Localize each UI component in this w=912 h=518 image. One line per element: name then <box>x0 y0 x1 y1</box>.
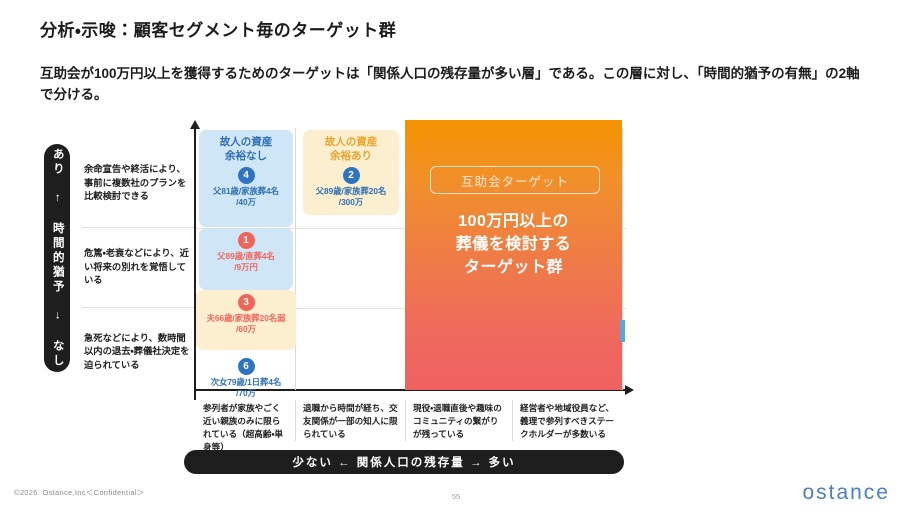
cell-4-persona: 父81歳/家族葬4名 /40万 <box>199 186 293 213</box>
column-desc-1: 退職から時間が経ち、交友関係が一部の知人に限られている <box>295 400 405 441</box>
cell-segment-4[interactable]: 故人の資産 余裕なし 4 父81歳/家族葬4名 /40万 <box>199 130 293 227</box>
cell-1-persona: 父89歳/直葬4名 /9万円 <box>199 251 293 278</box>
cell-2-header: 故人の資産 余裕あり <box>303 130 399 163</box>
column-desc-0: 参列者が家族やごく近い親族のみに限られている（超高齢・単身等） <box>196 400 295 454</box>
cell-3-persona: 夫66歳/家族葬20名弱 /60万 <box>196 313 296 340</box>
cell-4-header: 故人の資産 余裕なし <box>199 130 293 163</box>
row-label-1: 危篤・老衰などにより、近い将来の別れを覚悟している <box>82 228 194 308</box>
cell-2-persona: 父89歳/家族葬20名 /300万 <box>303 186 399 213</box>
cell-segment-1[interactable]: 1 父89歳/直葬4名 /9万円 <box>199 228 293 290</box>
column-divider-1 <box>295 128 296 390</box>
cell-4-badge: 4 <box>238 167 255 184</box>
y-axis-arrow <box>194 128 196 400</box>
cell-segment-3[interactable]: 3 夫66歳/家族葬20名弱 /60万 <box>196 290 296 350</box>
x-axis-label-pill: 少ない ← 関係人口の残存量 → 多い <box>184 450 624 474</box>
cell-6-badge: 6 <box>238 358 255 375</box>
column-desc-2: 現役・退職直後や趣味のコミュニティの繋がりが残っている <box>405 400 512 441</box>
stray-marker <box>620 320 625 342</box>
matrix-chart: あり ↑ 時間的猶予 ↓ なし 余命宣告や終活により、事前に複数社のプランを比較… <box>0 118 912 448</box>
target-chip-label: 互助会ターゲット <box>430 166 600 194</box>
lead-paragraph: 互助会が100万円以上を獲得するためのターゲットは「関係人口の残存量が多い層」で… <box>40 64 870 106</box>
page-number: 55 <box>0 492 912 501</box>
cell-1-badge: 1 <box>238 232 255 249</box>
cell-2-badge: 2 <box>343 167 360 184</box>
y-axis-label-pill: あり ↑ 時間的猶予 ↓ なし <box>44 144 70 372</box>
y-axis-label-text: あり ↑ 時間的猶予 ↓ なし <box>51 148 63 369</box>
column-divider-4 <box>622 128 623 390</box>
target-headline: 100万円以上の 葬儀を検討する ターゲット群 <box>405 210 622 280</box>
row-label-0: 余命宣告や終活により、事前に複数社のプランを比較検討できる <box>82 140 194 228</box>
page-title: 分析・示唆：顧客セグメント毎のターゲット群 <box>40 16 396 41</box>
row-label-column: 余命宣告や終活により、事前に複数社のプランを比較検討できる 危篤・老衰などにより… <box>82 140 194 396</box>
row-label-2: 急死などにより、数時間以内の退去・葬儀社決定を迫られている <box>82 308 194 396</box>
target-highlight-panel[interactable]: 互助会ターゲット 100万円以上の 葬儀を検討する ターゲット群 <box>405 120 622 390</box>
brand-logo: ostance <box>802 481 890 505</box>
column-desc-3: 経営者や地域役員など、義理で参列すべきステークホルダーが多数いる <box>512 400 622 441</box>
cell-3-badge: 3 <box>238 294 255 311</box>
cell-segment-2[interactable]: 故人の資産 余裕あり 2 父89歳/家族葬20名 /300万 <box>303 130 399 215</box>
